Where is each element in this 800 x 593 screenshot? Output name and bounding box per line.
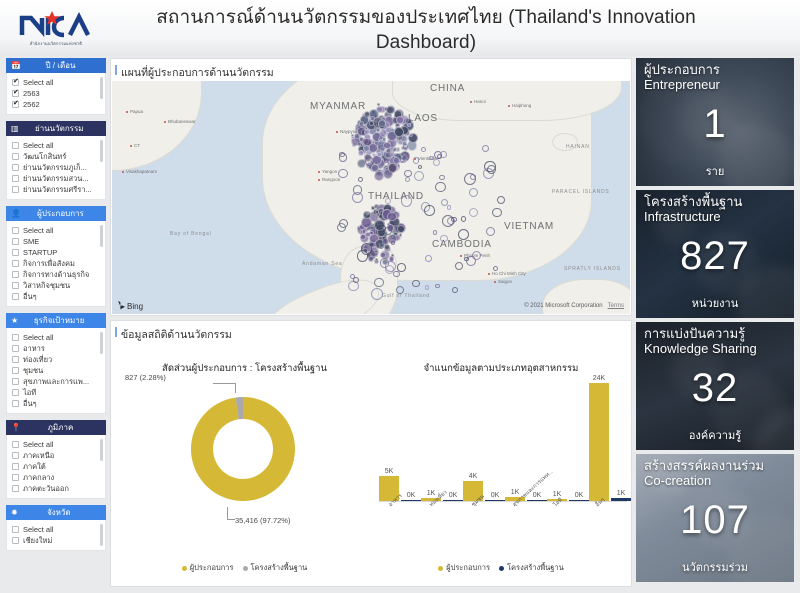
filter-options-5: Select allเชียงใหม่ <box>6 520 106 551</box>
filter-option[interactable]: Select all <box>12 140 102 151</box>
map-city-label: CT <box>134 143 140 148</box>
map-data-point[interactable] <box>414 171 424 181</box>
x-label-holder: อื่นๆ <box>586 503 627 553</box>
map-city-label: Saigon <box>498 279 512 284</box>
bar-group: 1K0K <box>421 375 463 501</box>
map-data-point[interactable] <box>396 286 404 294</box>
kpi-heading: สร้างสรรค์ผลงานร่วมCo-creation <box>644 459 764 488</box>
filter-option-label: Select all <box>23 78 53 87</box>
map-city-label: Ho Chi Minh City <box>492 271 526 276</box>
kpi-heading: การแบ่งปันความรู้Knowledge Sharing <box>644 327 757 356</box>
kpi-unit: องค์ความรู้ <box>636 426 794 444</box>
bar-legend[interactable]: ผู้ประกอบการโครงสร้างพื้นฐาน <box>373 562 629 574</box>
person-icon: 👤 <box>11 210 21 218</box>
kpi-heading: ผู้ประกอบการEntrepreneur <box>644 63 720 92</box>
filter-option-label: Select all <box>23 525 53 534</box>
legend-label: โครงสร้างพื้นฐาน <box>507 563 564 572</box>
filter-option[interactable]: วิสาหกิจชุมชน <box>12 280 102 291</box>
kpi-card-3[interactable]: การแบ่งปันความรู้Knowledge Sharing32องค์… <box>636 322 794 450</box>
bar-value-label: 4K <box>469 473 478 480</box>
kpi-title-en: Knowledge Sharing <box>644 342 757 357</box>
filter-header-0[interactable]: 📅ปี / เดือน <box>6 58 106 73</box>
map-data-point[interactable] <box>374 278 384 288</box>
filter-card-0: 📅ปี / เดือนSelect all25632562 <box>6 58 106 115</box>
kpi-value: 827 <box>636 234 794 279</box>
donut-chart[interactable]: สัดส่วนผู้ประกอบการ : โครงสร้างพื้นฐาน 8… <box>117 361 372 576</box>
checkbox-icon[interactable] <box>12 227 19 234</box>
checkbox-icon[interactable] <box>12 345 19 352</box>
kpi-title-th: ผู้ประกอบการ <box>644 63 720 78</box>
map-city-label: Yangon <box>322 169 337 174</box>
map-label: HAINAN <box>566 144 590 150</box>
filter-title-4: ภูมิภาค <box>25 421 106 434</box>
filter-option-label: อาหาร <box>23 343 45 354</box>
map-data-point[interactable] <box>357 250 368 261</box>
filter-option[interactable]: 2563 <box>12 88 102 99</box>
map-data-point[interactable] <box>435 182 445 192</box>
map-data-point[interactable] <box>470 174 476 180</box>
filter-scrollbar[interactable] <box>100 140 103 162</box>
checkbox-icon[interactable] <box>12 474 19 481</box>
map-copyright: © 2021 Microsoft Corporation Terms <box>524 303 624 309</box>
x-label-holder: ท่องเที่ยว <box>420 503 461 553</box>
filter-option[interactable]: อื่นๆ <box>12 398 102 409</box>
filter-header-5[interactable]: ✹จังหวัด <box>6 505 106 520</box>
filter-title-2: ผู้ประกอบการ <box>25 207 106 220</box>
map-data-point[interactable] <box>433 230 438 235</box>
filter-option[interactable]: ชุมชน <box>12 365 102 376</box>
map-label: PARACEL ISLANDS <box>552 189 610 195</box>
map-data-point[interactable] <box>379 129 387 137</box>
map-data-point[interactable] <box>400 158 405 163</box>
map-data-point[interactable] <box>380 252 386 258</box>
legend-swatch <box>438 566 443 571</box>
filter-option-label: ย่านนวัตกรรมสวน... <box>23 173 89 184</box>
map-label: CHINA <box>430 83 465 94</box>
bar-chart-title: จำแนกข้อมูลตามประเภทอุตสาหกรรม <box>373 361 629 376</box>
map-data-point[interactable] <box>440 151 447 158</box>
filter-title-1: ย่านนวัตกรรม <box>23 122 106 135</box>
map-pin-icon: 📍 <box>11 424 21 432</box>
map-data-point[interactable] <box>365 157 374 166</box>
kpi-value: 1 <box>636 102 794 147</box>
filter-option[interactable]: กิจการเพื่อสังคม <box>12 258 102 269</box>
map-data-point[interactable] <box>375 210 378 213</box>
filter-option-label: Select all <box>23 141 53 150</box>
filter-title-0: ปี / เดือน <box>25 59 106 72</box>
map-data-point[interactable] <box>439 175 444 180</box>
checkbox-icon[interactable] <box>12 186 19 193</box>
x-label-holder: ไอที <box>544 503 585 553</box>
checkbox-icon[interactable] <box>12 90 19 97</box>
filter-option[interactable]: STARTUP <box>12 247 102 258</box>
kpi-title-th: สร้างสรรค์ผลงานร่วม <box>644 459 764 474</box>
map-data-point[interactable] <box>492 208 502 218</box>
map-data-point[interactable] <box>387 212 396 221</box>
checkbox-icon[interactable] <box>12 334 19 341</box>
map-data-point[interactable] <box>442 215 454 227</box>
donut-label-entrepreneur: 35,416 (97.72%) <box>235 516 290 525</box>
filter-option-label: กิจการทางด้านธุรกิจ <box>23 269 89 280</box>
map-data-point[interactable] <box>353 277 359 283</box>
map-data-point[interactable] <box>394 127 404 137</box>
calendar-icon: 📅 <box>11 62 21 70</box>
map-panel-title: แผนที่ผู้ประกอบการด้านนวัตกรรม <box>111 59 631 81</box>
map-city-label: Haiphong <box>512 103 531 108</box>
map-data-point[interactable] <box>405 177 410 182</box>
filter-option-label: ย่านนวัตกรรมศรีรา... <box>23 184 92 195</box>
kpi-unit: ราย <box>636 162 794 180</box>
bar-column[interactable]: 1K <box>611 375 631 501</box>
checkbox-icon[interactable] <box>12 238 19 245</box>
checkbox-icon[interactable] <box>12 356 19 363</box>
checkbox-icon[interactable] <box>12 526 19 533</box>
map-label: MYANMAR <box>310 101 366 112</box>
legend-item[interactable]: ผู้ประกอบการ <box>182 562 234 574</box>
legend-item[interactable]: ผู้ประกอบการ <box>438 562 490 574</box>
stats-panel-title: ข้อมูลสถิติด้านนวัตกรรม <box>111 321 631 343</box>
map-attribution-bar: Bing © 2021 Microsoft Corporation Terms <box>112 298 630 314</box>
filter-options-2: Select allSMESTARTUPกิจการเพื่อสังคมกิจก… <box>6 221 106 307</box>
checkbox-icon[interactable] <box>12 367 19 374</box>
filter-option[interactable]: ท่องเที่ยว <box>12 354 102 365</box>
donut-leader-top-v <box>235 383 236 393</box>
checkbox-icon[interactable] <box>12 101 19 108</box>
donut-legend[interactable]: ผู้ประกอบการโครงสร้างพื้นฐาน <box>117 562 372 574</box>
filter-option-label: อื่นๆ <box>23 398 37 409</box>
map-data-point[interactable] <box>424 205 434 215</box>
kpi-unit: นวัตกรรมร่วม <box>636 558 794 576</box>
filter-card-5: ✹จังหวัดSelect allเชียงใหม่ <box>6 505 106 551</box>
filter-option-label: STARTUP <box>23 248 57 257</box>
filter-option-label: Select all <box>23 333 53 342</box>
bar[interactable] <box>589 383 609 501</box>
kpi-unit: หน่วยงาน <box>636 294 794 312</box>
filter-option[interactable]: 2562 <box>12 99 102 110</box>
bar-column[interactable]: 24K <box>589 375 609 501</box>
bar-value-label: 0K <box>575 492 584 499</box>
checkbox-icon[interactable] <box>12 260 19 267</box>
checkbox-icon[interactable] <box>12 400 19 407</box>
map-data-point[interactable] <box>487 165 496 174</box>
nia-logo-subtitle: สำนักงานนวัตกรรมแห่งชาติ <box>30 40 82 48</box>
filter-option[interactable]: ย่านนวัตกรรมสวน... <box>12 173 102 184</box>
map-data-point[interactable] <box>383 142 391 150</box>
checkbox-icon[interactable] <box>12 153 19 160</box>
donut-leader-bottom-h <box>227 519 235 520</box>
star-icon: ★ <box>11 317 18 325</box>
map-city-label: Visakhapatnam <box>126 169 157 174</box>
filter-option[interactable]: ภาคตะวันออก <box>12 483 102 494</box>
filter-option-label: ย่านนวัตกรรมภูเก็... <box>23 162 87 173</box>
bar-group: 1K0K <box>547 375 589 501</box>
filter-scrollbar[interactable] <box>100 439 103 461</box>
map-data-point[interactable] <box>388 163 398 173</box>
filter-scrollbar[interactable] <box>100 332 103 354</box>
filter-option[interactable]: สุขภาพและการแพ... <box>12 376 102 387</box>
legend-swatch <box>499 566 504 571</box>
filter-option[interactable]: ย่านนวัตกรรมศรีรา... <box>12 184 102 195</box>
filter-option-label: เชียงใหม่ <box>23 535 52 546</box>
map-data-point[interactable] <box>433 159 440 166</box>
kpi-heading: โครงสร้างพื้นฐานInfrastructure <box>644 195 742 224</box>
filter-header-4[interactable]: 📍ภูมิภาค <box>6 420 106 435</box>
filter-option-label: วิสาหกิจชุมชน <box>23 280 70 291</box>
bar-chart[interactable]: จำแนกข้อมูลตามประเภทอุตสาหกรรม 5K0K1K0K4… <box>373 361 629 576</box>
bing-logo-text: Bing <box>127 302 143 311</box>
kpi-card-2[interactable]: โครงสร้างพื้นฐานInfrastructure827หน่วยงา… <box>636 190 794 318</box>
filter-option-label: ไอที <box>23 387 36 398</box>
checkbox-icon[interactable] <box>12 271 19 278</box>
nia-logo: สำนักงานนวัตกรรมแห่งชาติ <box>0 0 112 56</box>
filter-scrollbar[interactable] <box>100 524 103 546</box>
donut-leader-top-h <box>213 383 235 384</box>
legend-item[interactable]: โครงสร้างพื้นฐาน <box>499 562 564 574</box>
map-data-point[interactable] <box>421 147 426 152</box>
map-data-point[interactable] <box>397 225 405 233</box>
filter-option-label: ชุมชน <box>23 365 43 376</box>
legend-label: โครงสร้างพื้นฐาน <box>251 563 308 572</box>
checkbox-icon[interactable] <box>12 485 19 492</box>
stats-panel: ข้อมูลสถิติด้านนวัตกรรม สัดส่วนผู้ประกอบ… <box>110 320 632 587</box>
bar-column[interactable]: 0K <box>569 375 589 501</box>
bar-group: 4K0K <box>463 375 505 501</box>
filter-option[interactable]: อื่นๆ <box>12 291 102 302</box>
filter-option[interactable]: ไอที <box>12 387 102 398</box>
donut-label-infrastructure: 827 (2.28%) <box>125 373 166 382</box>
filter-option-label: อื่นๆ <box>23 291 37 302</box>
filter-option-label: กิจการเพื่อสังคม <box>23 258 75 269</box>
filter-option[interactable]: ภาคใต้ <box>12 461 102 472</box>
filter-option-label: Select all <box>23 440 53 449</box>
map-data-point[interactable] <box>393 271 400 278</box>
legend-label: ผู้ประกอบการ <box>190 563 234 572</box>
x-label-holder: อาหาร <box>379 503 420 553</box>
checkbox-icon[interactable] <box>12 249 19 256</box>
map-data-point[interactable] <box>359 121 365 127</box>
map-data-point[interactable] <box>447 205 452 210</box>
checkbox-icon[interactable] <box>12 282 19 289</box>
map-terms-link[interactable]: Terms <box>608 303 624 309</box>
filter-option[interactable]: วัฒนโกสินทร์ <box>12 151 102 162</box>
filter-header-3[interactable]: ★ธุรกิจเป้าหมาย <box>6 313 106 328</box>
legend-swatch <box>243 566 248 571</box>
filter-options-4: Select allภาคเหนือภาคใต้ภาคกลางภาคตะวันอ… <box>6 435 106 499</box>
bar-chart-x-labels: อาหารท่องเที่ยวชุมชนสุขภาพและการแพท...ไอ… <box>379 503 627 553</box>
map-city-label: Rangoon <box>322 177 340 182</box>
map-data-point[interactable] <box>404 170 411 177</box>
map-data-point[interactable] <box>493 266 498 271</box>
filter-option[interactable]: ย่านนวัตกรรมภูเก็... <box>12 162 102 173</box>
kpi-title-th: การแบ่งปันความรู้ <box>644 327 757 342</box>
filter-card-3: ★ธุรกิจเป้าหมายSelect allอาหารท่องเที่ยว… <box>6 313 106 414</box>
filter-option-label: ภาคเหนือ <box>23 450 54 461</box>
kpi-title-en: Entrepreneur <box>644 78 720 93</box>
filter-option-label: ภาคตะวันออก <box>23 483 69 494</box>
filter-header-2[interactable]: 👤ผู้ประกอบการ <box>6 206 106 221</box>
checkbox-icon[interactable] <box>12 142 19 149</box>
filter-option-label: ภาคกลาง <box>23 472 54 483</box>
filter-option[interactable]: Select all <box>12 524 102 535</box>
kpi-value: 32 <box>636 366 794 411</box>
map-data-point[interactable] <box>396 116 404 124</box>
bing-map[interactable]: MYANMARLAOSTHAILANDVIETNAMCAMBODIACHINAH… <box>112 81 630 314</box>
filter-option[interactable]: Select all <box>12 332 102 343</box>
map-data-point[interactable] <box>413 157 419 163</box>
map-label: SPRATLY ISLANDS <box>564 266 621 272</box>
page-title: สถานการณ์ด้านนวัตกรรมของประเทศไทย (Thail… <box>112 2 800 54</box>
map-data-point[interactable] <box>374 171 384 181</box>
filter-option[interactable]: ภาคกลาง <box>12 472 102 483</box>
checkbox-icon[interactable] <box>12 452 19 459</box>
bar-column[interactable]: 1K <box>505 375 525 501</box>
map-label: Andaman Sea <box>302 261 343 267</box>
bing-logo[interactable]: Bing <box>118 301 143 311</box>
x-label-holder: สุขภาพและการแพท... <box>503 503 544 553</box>
filter-option-label: ท่องเที่ยว <box>23 354 52 365</box>
checkbox-icon[interactable] <box>12 293 19 300</box>
filter-title-5: จังหวัด <box>22 506 106 519</box>
filter-option-label: ภาคใต้ <box>23 461 46 472</box>
filter-option[interactable]: Select all <box>12 225 102 236</box>
map-data-point[interactable] <box>385 198 391 204</box>
filter-options-0: Select all25632562 <box>6 73 106 115</box>
filter-card-1: ▥ย่านนวัตกรรมSelect allวัฒนโกสินทร์ย่านน… <box>6 121 106 200</box>
filter-option-label: สุขภาพและการแพ... <box>23 376 89 387</box>
map-city-label: Bhubaneswar <box>168 119 196 124</box>
map-data-point[interactable] <box>425 285 430 290</box>
x-label-holder: ชุมชน <box>462 503 503 553</box>
bar-column[interactable]: 5K <box>379 375 399 501</box>
bar-value-label: 1K <box>511 489 520 496</box>
map-label: THAILAND <box>368 191 424 202</box>
map-data-point[interactable] <box>386 106 394 114</box>
bar-group: 24K1K <box>589 375 631 501</box>
map-data-point[interactable] <box>391 241 395 245</box>
map-data-point[interactable] <box>374 250 378 254</box>
filter-options-3: Select allอาหารท่องเที่ยวชุมชนสุขภาพและก… <box>6 328 106 414</box>
kpi-value: 107 <box>636 498 794 543</box>
bar-value-label: 24K <box>593 375 605 382</box>
kpi-card-list: ผู้ประกอบการEntrepreneur1รายโครงสร้างพื้… <box>636 58 794 589</box>
filter-title-3: ธุรกิจเป้าหมาย <box>22 314 106 327</box>
filter-option-label: SME <box>23 237 39 246</box>
filter-card-4: 📍ภูมิภาคSelect allภาคเหนือภาคใต้ภาคกลางภ… <box>6 420 106 499</box>
filter-option-label: 2563 <box>23 89 40 98</box>
map-data-point[interactable] <box>396 147 401 152</box>
map-panel: แผนที่ผู้ประกอบการด้านนวัตกรรม MYANMARLA… <box>110 58 632 316</box>
map-data-point[interactable] <box>486 227 495 236</box>
filter-card-2: 👤ผู้ประกอบการSelect allSMESTARTUPกิจการเ… <box>6 206 106 307</box>
bar-chart-axis <box>379 501 627 502</box>
legend-swatch <box>182 566 187 571</box>
filter-option[interactable]: กิจการทางด้านธุรกิจ <box>12 269 102 280</box>
checkbox-icon[interactable] <box>12 164 19 171</box>
filter-option-label: 2562 <box>23 100 40 109</box>
kpi-title-th: โครงสร้างพื้นฐาน <box>644 195 742 210</box>
map-data-point[interactable] <box>429 156 433 160</box>
nia-logo-mark <box>18 9 94 39</box>
filter-scrollbar[interactable] <box>100 77 103 99</box>
map-data-point[interactable] <box>397 263 406 272</box>
filter-options-1: Select allวัฒนโกสินทร์ย่านนวัตกรรมภูเก็.… <box>6 136 106 200</box>
kpi-title-en: Infrastructure <box>644 210 742 225</box>
checkbox-icon[interactable] <box>12 463 19 470</box>
buildings-icon: ▥ <box>11 125 19 133</box>
checkbox-icon[interactable] <box>12 175 19 182</box>
map-copyright-text: © 2021 Microsoft Corporation <box>524 303 602 309</box>
filter-option-label: Select all <box>23 226 53 235</box>
filter-option[interactable]: เชียงใหม่ <box>12 535 102 546</box>
map-data-point[interactable] <box>358 150 364 156</box>
filter-option[interactable]: SME <box>12 236 102 247</box>
app-header: สำนักงานนวัตกรรมแห่งชาติ สถานการณ์ด้านนว… <box>0 0 800 56</box>
donut-graphic[interactable] <box>183 389 303 509</box>
map-data-point[interactable] <box>435 284 440 289</box>
map-data-point[interactable] <box>425 255 432 262</box>
legend-item[interactable]: โครงสร้างพื้นฐาน <box>243 562 308 574</box>
map-data-point[interactable] <box>403 144 408 149</box>
bar-value-label: 5K <box>385 468 394 475</box>
bar-column[interactable]: 4K <box>463 375 483 501</box>
filter-scrollbar[interactable] <box>100 225 103 247</box>
bar-chart-bars[interactable]: 5K0K1K0K4K0K1K0K1K0K24K1K <box>379 375 627 501</box>
checkbox-icon[interactable] <box>12 378 19 385</box>
filter-option[interactable]: ภาคเหนือ <box>12 450 102 461</box>
map-data-point[interactable] <box>412 280 419 287</box>
map-data-point[interactable] <box>377 152 381 156</box>
kpi-title-en: Co-creation <box>644 474 764 489</box>
map-city-label: Hanoi <box>474 99 486 104</box>
map-data-point[interactable] <box>338 169 348 179</box>
map-label: VIETNAM <box>504 221 554 232</box>
filter-sidebar[interactable]: 📅ปี / เดือนSelect all25632562▥ย่านนวัตกร… <box>6 58 106 593</box>
map-data-point[interactable] <box>337 223 346 232</box>
map-data-point[interactable] <box>351 136 354 139</box>
kpi-card-1[interactable]: ผู้ประกอบการEntrepreneur1ราย <box>636 58 794 186</box>
filter-option-label: วัฒนโกสินทร์ <box>23 151 66 162</box>
checkbox-icon[interactable] <box>12 441 19 448</box>
filter-option[interactable]: Select all <box>12 439 102 450</box>
map-label: Bay of Bengal <box>170 231 212 237</box>
bar-group: 5K0K <box>379 375 421 501</box>
bar-column[interactable]: 1K <box>421 375 441 501</box>
bar-column[interactable]: 1K <box>547 375 567 501</box>
filter-option[interactable]: Select all <box>12 77 102 88</box>
legend-label: ผู้ประกอบการ <box>446 563 490 572</box>
filter-option[interactable]: อาหาร <box>12 343 102 354</box>
checkbox-icon[interactable] <box>12 537 19 544</box>
kpi-card-4[interactable]: สร้างสรรค์ผลงานร่วมCo-creation107นวัตกรร… <box>636 454 794 582</box>
checkbox-icon[interactable] <box>12 389 19 396</box>
map-city-label: Papua <box>130 109 143 114</box>
donut-leader-bottom-v <box>227 507 228 519</box>
flower-icon: ✹ <box>11 509 18 517</box>
map-data-point[interactable] <box>455 262 463 270</box>
checkbox-icon[interactable] <box>12 79 19 86</box>
filter-header-1[interactable]: ▥ย่านนวัตกรรม <box>6 121 106 136</box>
